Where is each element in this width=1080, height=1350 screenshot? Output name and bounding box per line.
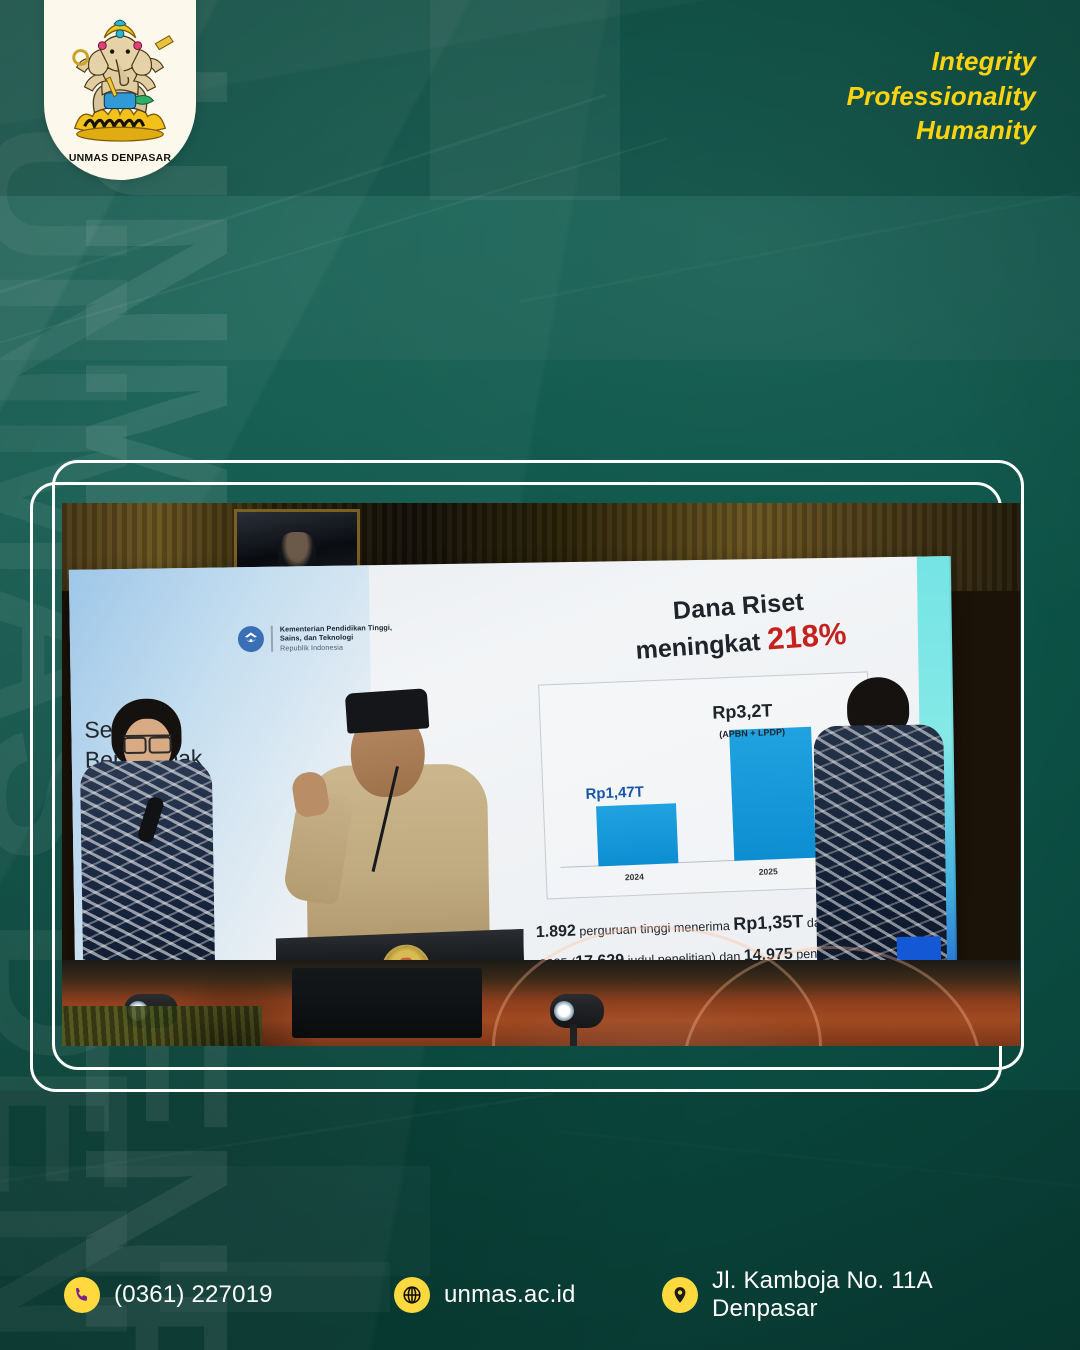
stage-foreground [62,960,1020,1046]
slide-headline-word: meningkat [635,628,762,665]
stage-light-left [124,994,178,1028]
tagline-line-1: Integrity [847,44,1036,79]
globe-icon [394,1277,430,1313]
logo-caption: UNMAS DENPASAR [69,152,171,164]
phone-icon [64,1277,100,1313]
tagline-line-2: Professionality [847,79,1036,114]
stat-amount: Rp1,35T [733,911,804,934]
globe-glyph [401,1284,423,1306]
slide-headline-percent: 218% [766,615,848,656]
location-pin-icon [662,1277,698,1313]
footer-phone[interactable]: (0361) 227019 [64,1277,394,1313]
footer-address[interactable]: Jl. Kamboja No. 11A Denpasar [662,1267,1016,1323]
bar-label-2024: Rp1,47T [585,783,644,802]
stat-universities: 1.892 [536,923,577,941]
ministry-line-3: Republik Indonesia [280,642,392,653]
footer-website-label: unmas.ac.id [444,1281,576,1309]
bar-label-2025: Rp3,2T [712,700,773,723]
stage-light-center [550,994,604,1028]
stage-plants [62,1006,262,1046]
bar-2024 [596,803,678,866]
ministry-divider [271,626,273,652]
speaker-peci-cap [345,688,430,733]
person-left-glasses [123,734,171,748]
x-tick-2024: 2024 [625,872,644,883]
stage-monitor [292,968,482,1038]
contact-footer: (0361) 227019 unmas.ac.id Jl. Kamboja No… [0,1240,1080,1350]
location-pin-glyph [670,1285,690,1305]
slide-headline: Dana Riset meningkat 218% [588,581,892,671]
stage-arc-2 [682,946,982,1046]
tagline-line-3: Humanity [847,113,1036,148]
tagline: Integrity Professionality Humanity [847,44,1036,148]
projection-screen: Kementerian Pendidikan Tinggi, Sains, da… [69,556,955,980]
ganesha-emblem-icon [61,18,179,150]
event-photo: Kementerian Pendidikan Tinggi, Sains, da… [62,503,1020,1046]
unmas-logo-shield: UNMAS DENPASAR [44,0,196,180]
x-tick-2025: 2025 [759,866,778,877]
footer-phone-label: (0361) 227019 [114,1281,273,1309]
phone-glyph [72,1285,92,1305]
ministry-lockup: Kementerian Pendidikan Tinggi, Sains, da… [238,623,393,653]
footer-address-label: Jl. Kamboja No. 11A Denpasar [712,1267,1016,1323]
tut-wuri-handayani-icon [238,626,264,652]
ministry-text: Kementerian Pendidikan Tinggi, Sains, da… [280,623,393,653]
bar-2025 [729,727,816,861]
speaker-figure [286,671,506,994]
ministry-emblem-glyph [242,630,260,648]
footer-website[interactable]: unmas.ac.id [394,1277,662,1313]
